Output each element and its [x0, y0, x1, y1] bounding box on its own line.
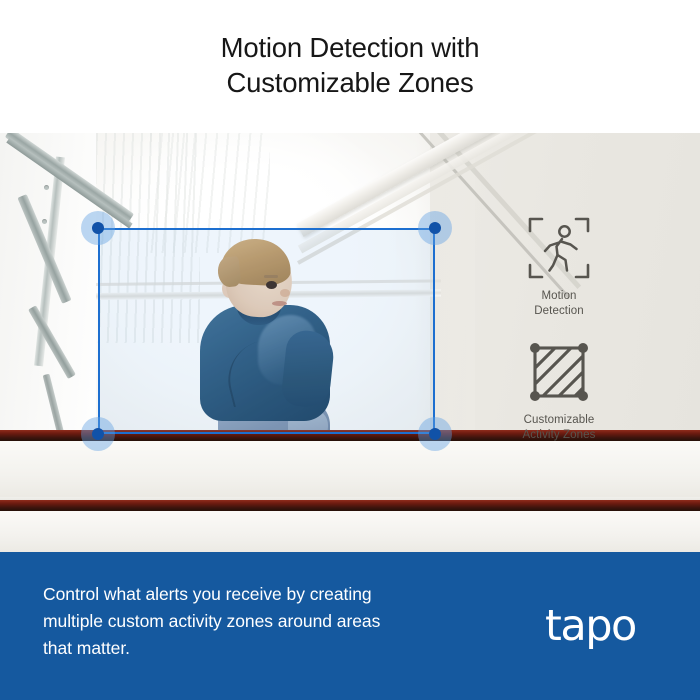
activity-zone-rectangle[interactable] — [98, 228, 435, 434]
zone-handle-top-right[interactable] — [418, 211, 452, 245]
feature-motion-detection: Motion Detection — [484, 215, 634, 318]
zone-handle-bottom-left[interactable] — [81, 417, 115, 451]
feature-customizable-activity-zones-label: Customizable Activity Zones — [484, 413, 634, 442]
handrail-screw — [44, 185, 49, 190]
tapo-logo: tapo — [545, 605, 636, 648]
scene-photo: Motion Detection — [0, 133, 700, 552]
feature-customizable-activity-zones: Customizable Activity Zones — [484, 339, 634, 442]
stair-nosing-lower — [0, 500, 700, 511]
page-title-line2: Customizable Zones — [221, 65, 480, 100]
banner-line2: multiple custom activity zones around ar… — [43, 608, 473, 635]
motion-detection-icon — [526, 215, 592, 281]
stair-riser-lower — [0, 511, 700, 552]
handrail-screw — [42, 219, 47, 224]
zone-handle-bottom-right[interactable] — [418, 417, 452, 451]
page-title: Motion Detection with Customizable Zones — [221, 30, 480, 104]
banner-line1: Control what alerts you receive by creat… — [43, 581, 473, 608]
banner-line3: that matter. — [43, 635, 473, 662]
bottom-banner: Control what alerts you receive by creat… — [0, 552, 700, 700]
banner-description: Control what alerts you receive by creat… — [43, 581, 473, 662]
feature-motion-detection-label: Motion Detection — [484, 289, 634, 318]
page-title-line1: Motion Detection with — [221, 30, 480, 65]
customizable-activity-zones-icon — [526, 339, 592, 405]
zone-handle-top-left[interactable] — [81, 211, 115, 245]
promo-graphic: Motion Detection with Customizable Zones — [0, 0, 700, 700]
header: Motion Detection with Customizable Zones — [0, 0, 700, 133]
